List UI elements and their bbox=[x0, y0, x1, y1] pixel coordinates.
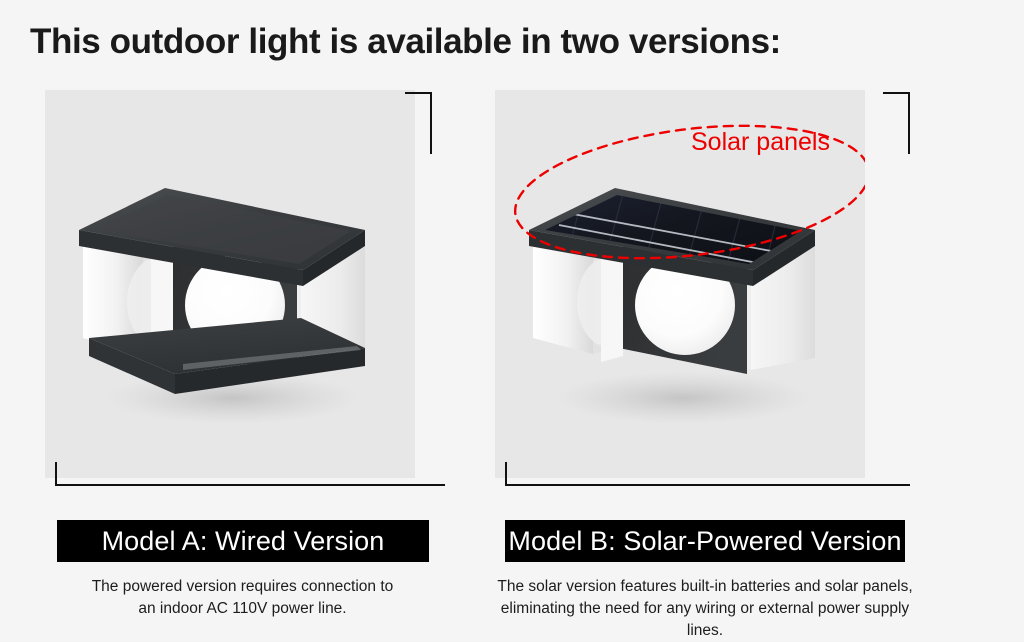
page-title: This outdoor light is available in two v… bbox=[30, 22, 781, 62]
bracket-bottom-left-horizontal bbox=[55, 484, 445, 486]
model-caption-b: The solar version features built-in batt… bbox=[490, 576, 920, 642]
model-label-bar-b: Model B: Solar-Powered Version bbox=[505, 520, 905, 562]
product-photo-model-b: Solar panels bbox=[495, 90, 865, 478]
solar-panels-label: Solar panels bbox=[691, 128, 830, 157]
caption-line: The solar version features built-in batt… bbox=[490, 576, 920, 598]
bracket-bottom-left-horizontal bbox=[505, 484, 910, 486]
model-label-bar-a: Model A: Wired Version bbox=[57, 520, 429, 562]
lamp-illustration-wired bbox=[65, 142, 395, 442]
bracket-bottom-left-vertical bbox=[55, 462, 57, 484]
bracket-top-right-horizontal bbox=[883, 92, 909, 94]
bracket-top-right-vertical bbox=[908, 92, 910, 154]
product-photo-model-a bbox=[45, 90, 415, 478]
caption-line: The powered version requires connection … bbox=[45, 576, 440, 598]
model-caption-a: The powered version requires connection … bbox=[45, 576, 440, 620]
caption-line: an indoor AC 110V power line. bbox=[45, 598, 440, 620]
bracket-top-right-horizontal bbox=[405, 92, 431, 94]
bracket-bottom-left-vertical bbox=[505, 462, 507, 484]
caption-line: eliminating the need for any wiring or e… bbox=[490, 598, 920, 642]
lamp-illustration-solar bbox=[515, 142, 845, 442]
bracket-top-right-vertical bbox=[430, 92, 432, 154]
